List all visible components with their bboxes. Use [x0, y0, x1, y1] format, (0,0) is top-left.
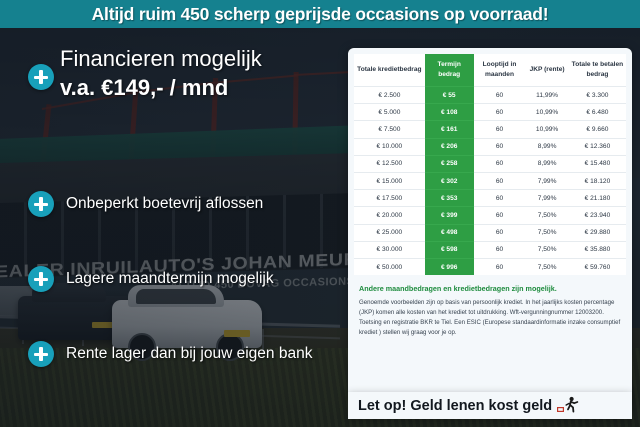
table-cell: € 50.000 [354, 258, 425, 275]
feature-bullet-3: Rente lager dan bij jouw eigen bank [28, 341, 312, 367]
plus-circle-icon [28, 266, 54, 292]
table-cell: 7,50% [525, 207, 569, 224]
table-row: € 12.500€ 258608,99%€ 15.480 [354, 155, 626, 172]
warning-text: Let op! Geld lenen kost geld [358, 398, 552, 414]
disclaimer-title: Andere maandbedragen en kredietbedragen … [359, 284, 621, 294]
table-cell: € 161 [425, 121, 474, 138]
table-cell: € 18.120 [569, 173, 626, 190]
table-cell: € 108 [425, 104, 474, 121]
table-cell: 60 [474, 258, 526, 275]
table-cell: 60 [474, 87, 526, 104]
disclaimer-body: Genoemde voorbeelden zijn op basis van p… [359, 298, 621, 337]
table-cell: € 498 [425, 224, 474, 241]
warning-bar: Let op! Geld lenen kost geld [348, 392, 632, 419]
plus-circle-icon [28, 64, 54, 90]
table-row: € 10.000€ 206608,99%€ 12.360 [354, 138, 626, 155]
feature-bullet-1-label: Onbeperkt boetevrij aflossen [66, 195, 263, 213]
running-man-icon [557, 396, 579, 416]
table-cell: € 20.000 [354, 207, 425, 224]
table-cell: € 25.000 [354, 224, 425, 241]
table-cell: 60 [474, 207, 526, 224]
table-cell: 60 [474, 190, 526, 207]
table-cell: € 206 [425, 138, 474, 155]
table-cell: € 598 [425, 241, 474, 258]
table-cell: 60 [474, 121, 526, 138]
table-cell: 10,99% [525, 104, 569, 121]
top-banner: Altijd ruim 450 scherp geprijsde occasio… [0, 0, 640, 28]
table-cell: 7,50% [525, 224, 569, 241]
table-cell: € 353 [425, 190, 474, 207]
table-cell: € 5.000 [354, 104, 425, 121]
table-cell: 7,99% [525, 173, 569, 190]
table-cell: 60 [474, 138, 526, 155]
table-header-cell: Looptijd in maanden [474, 54, 526, 87]
table-cell: € 302 [425, 173, 474, 190]
credit-rate-table: Totale kredietbedragTermijn bedragLoopti… [354, 54, 626, 275]
table-header-cell: Totale kredietbedrag [354, 54, 425, 87]
table-row: € 20.000€ 399607,50%€ 23.940 [354, 207, 626, 224]
headline-line-2: v.a. €149,- / mnd [60, 75, 345, 101]
table-header-cell: Totale te betalen bedrag [569, 54, 626, 87]
headline-line-1: Financieren mogelijk [60, 46, 345, 71]
table-cell: € 2.500 [354, 87, 425, 104]
plus-circle-icon [28, 341, 54, 367]
top-banner-text: Altijd ruim 450 scherp geprijsde occasio… [92, 4, 549, 25]
table-cell: € 10.000 [354, 138, 425, 155]
table-cell: 60 [474, 224, 526, 241]
table-cell: € 7.500 [354, 121, 425, 138]
feature-bullet-1: Onbeperkt boetevrij aflossen [28, 191, 263, 217]
table-cell: € 21.180 [569, 190, 626, 207]
table-header-cell: Termijn bedrag [425, 54, 474, 87]
table-cell: € 59.760 [569, 258, 626, 275]
table-cell: € 29.880 [569, 224, 626, 241]
promo-banner-image: DEALER INRUILAUTO'S JOHAN MEURE ALTIJD 4… [0, 0, 640, 427]
rate-table-card: Totale kredietbedragTermijn bedragLoopti… [348, 48, 632, 400]
headline-bullet [28, 64, 54, 90]
table-cell: € 996 [425, 258, 474, 275]
table-cell: € 15.000 [354, 173, 425, 190]
table-cell: € 6.480 [569, 104, 626, 121]
disclaimer-block: Andere maandbedragen en kredietbedragen … [359, 284, 621, 338]
table-cell: € 55 [425, 87, 474, 104]
table-row: € 25.000€ 498607,50%€ 29.880 [354, 224, 626, 241]
table-cell: 60 [474, 104, 526, 121]
table-cell: 8,99% [525, 155, 569, 172]
table-row: € 5.000€ 1086010,99%€ 6.480 [354, 104, 626, 121]
table-cell: 7,50% [525, 258, 569, 275]
table-header-row: Totale kredietbedragTermijn bedragLoopti… [354, 54, 626, 87]
table-cell: € 258 [425, 155, 474, 172]
left-content-panel: Financieren mogelijk v.a. €149,- / mnd O… [0, 28, 348, 427]
table-row: € 15.000€ 302607,99%€ 18.120 [354, 173, 626, 190]
table-cell: € 30.000 [354, 241, 425, 258]
table-header-cell: JKP (rente) [525, 54, 569, 87]
table-cell: € 3.300 [569, 87, 626, 104]
feature-bullet-2-label: Lagere maandtermijn mogelijk [66, 270, 274, 288]
table-cell: € 9.660 [569, 121, 626, 138]
table-row: € 17.500€ 353607,99%€ 21.180 [354, 190, 626, 207]
table-cell: 7,50% [525, 241, 569, 258]
headline-block: Financieren mogelijk v.a. €149,- / mnd [60, 46, 345, 102]
table-row: € 7.500€ 1616010,99%€ 9.660 [354, 121, 626, 138]
table-cell: 8,99% [525, 138, 569, 155]
table-cell: € 12.500 [354, 155, 425, 172]
table-body: € 2.500€ 556011,99%€ 3.300€ 5.000€ 10860… [354, 87, 626, 276]
table-cell: € 15.480 [569, 155, 626, 172]
table-cell: 10,99% [525, 121, 569, 138]
table-row: € 30.000€ 598607,50%€ 35.880 [354, 241, 626, 258]
plus-circle-icon [28, 191, 54, 217]
table-cell: 7,99% [525, 190, 569, 207]
table-cell: € 12.360 [569, 138, 626, 155]
table-cell: € 23.940 [569, 207, 626, 224]
feature-bullet-2: Lagere maandtermijn mogelijk [28, 266, 274, 292]
table-row: € 50.000€ 996607,50%€ 59.760 [354, 258, 626, 275]
table-cell: 11,99% [525, 87, 569, 104]
table-cell: 60 [474, 155, 526, 172]
table-cell: € 17.500 [354, 190, 425, 207]
table-cell: € 399 [425, 207, 474, 224]
table-cell: € 35.880 [569, 241, 626, 258]
table-cell: 60 [474, 241, 526, 258]
feature-bullet-3-label: Rente lager dan bij jouw eigen bank [66, 345, 312, 363]
table-row: € 2.500€ 556011,99%€ 3.300 [354, 87, 626, 104]
table-cell: 60 [474, 173, 526, 190]
